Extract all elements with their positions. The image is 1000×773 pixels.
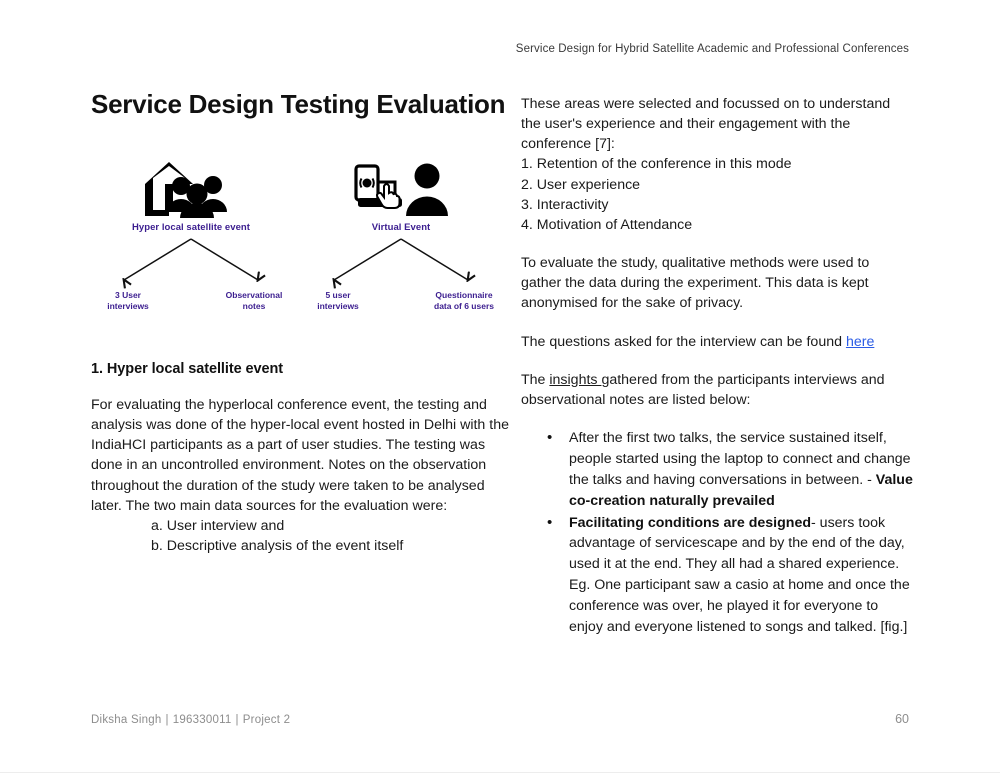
leaf-line-1: 3 User [115, 290, 141, 300]
leaf-line-1: Observational [226, 290, 283, 300]
research-methods-diagram: Hyper local satellite event 3 [91, 152, 511, 327]
bullet-bold-text: Facilitating conditions are designed [569, 515, 811, 531]
list-item: 1. Retention of the conference in this m… [521, 154, 913, 174]
diagram-node-hyper-local: Hyper local satellite event 3 [91, 152, 291, 327]
right-column: These areas were selected and focussed o… [521, 94, 913, 639]
diagram-label-hyper-local: Hyper local satellite event [91, 222, 291, 233]
diagram-leaves-right: 5 user interviews Questionnaire data of … [301, 290, 501, 313]
diagram-leaf-questionnaire-data: Questionnaire data of 6 users [421, 290, 507, 313]
insights-paragraph: The insights gathered from the participa… [521, 370, 913, 410]
section-heading-hyper-local: 1. Hyper local satellite event [91, 361, 511, 377]
interview-questions-link[interactable]: here [846, 334, 874, 350]
diagram-leaf-user-interviews: 3 User interviews [85, 290, 171, 313]
left-column-paragraph: For evaluating the hyperlocal conference… [91, 395, 511, 516]
footer-author: Diksha Singh [91, 714, 162, 726]
list-item: After the first two talks, the service s… [547, 428, 913, 512]
focus-areas-intro: These areas were selected and focussed o… [521, 94, 913, 154]
footer-roll-number: 196330011 [173, 714, 232, 726]
page-number: 60 [895, 712, 909, 726]
list-item: 4. Motivation of Attendance [521, 215, 913, 235]
footer-separator: | [162, 714, 173, 726]
insights-prefix: The [521, 372, 549, 388]
methods-paragraph: To evaluate the study, qualitative metho… [521, 253, 913, 313]
list-item: Facilitating conditions are designed- us… [547, 513, 913, 638]
diagram-leaves-left: 3 User interviews Observational notes [91, 290, 291, 313]
running-head: Service Design for Hybrid Satellite Acad… [516, 43, 909, 55]
leaf-line-1: 5 user [325, 290, 350, 300]
list-item: a. User interview and [151, 516, 511, 536]
diagram-label-virtual-event: Virtual Event [301, 222, 501, 233]
leaf-line-2: notes [243, 301, 266, 311]
document-page: Service Design for Hybrid Satellite Acad… [0, 0, 1000, 773]
leaf-line-2: interviews [317, 301, 359, 311]
leaf-line-2: interviews [107, 301, 149, 311]
left-column-sub-list: a. User interview and b. Descriptive ana… [91, 516, 511, 556]
insights-keyword: insights [549, 372, 601, 388]
bullet-text: After the first two talks, the service s… [569, 430, 911, 488]
diagram-arrows-right [301, 236, 501, 290]
questions-paragraph: The questions asked for the interview ca… [521, 332, 913, 352]
leaf-line-2: data of 6 users [434, 301, 494, 311]
bullet-text-after: - users took advantage of servicescape a… [569, 515, 910, 635]
house-with-people-icon [91, 152, 291, 220]
list-item: b. Descriptive analysis of the event its… [151, 536, 511, 556]
diagram-node-virtual-event: Virtual Event 5 user [301, 152, 501, 327]
diagram-leaf-user-interviews-virtual: 5 user interviews [295, 290, 381, 313]
diagram-arrows-left [91, 236, 291, 290]
person-with-tablet-icon [301, 152, 501, 220]
footer-credit: Diksha Singh|196330011|Project 2 [91, 714, 290, 726]
list-item: 2. User experience [521, 175, 913, 195]
footer-project: Project 2 [243, 714, 290, 726]
leaf-line-1: Questionnaire [435, 290, 492, 300]
list-item: 3. Interactivity [521, 195, 913, 215]
insights-bullet-list: After the first two talks, the service s… [521, 428, 913, 638]
focus-areas-list: 1. Retention of the conference in this m… [521, 154, 913, 235]
page-title: Service Design Testing Evaluation [91, 90, 511, 120]
questions-text: The questions asked for the interview ca… [521, 334, 846, 350]
left-column: Service Design Testing Evaluation [91, 90, 511, 556]
footer-separator: | [232, 714, 243, 726]
diagram-leaf-observational-notes: Observational notes [211, 290, 297, 313]
